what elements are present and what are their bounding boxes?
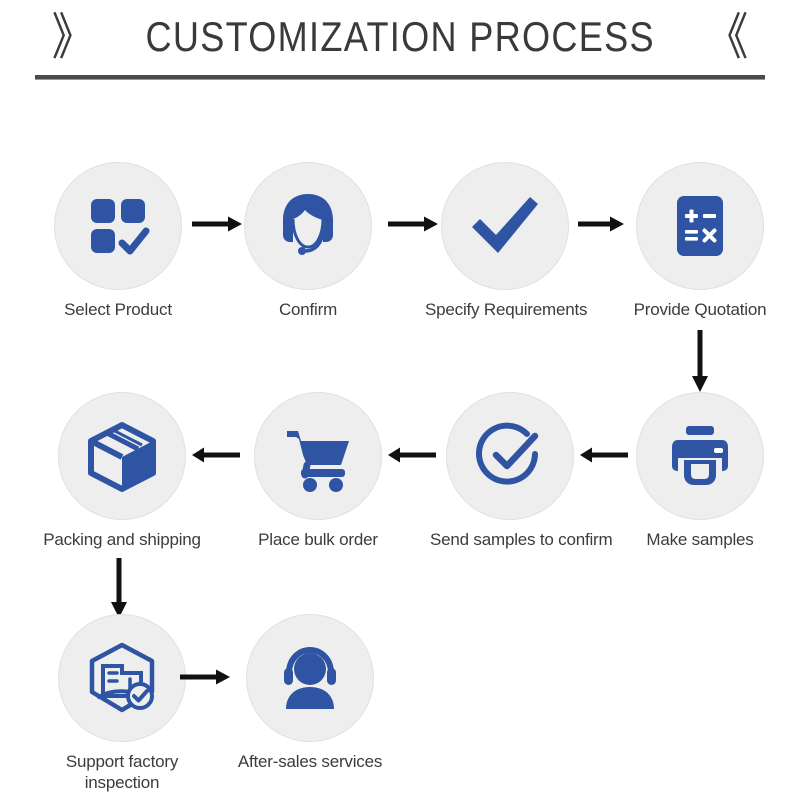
step-icon-circle	[58, 392, 186, 520]
step-provide-quotation[interactable]: Provide Quotation	[620, 162, 780, 320]
connector-arrow-right	[578, 215, 624, 233]
connector-arrow-left	[388, 446, 436, 464]
step-icon-circle	[446, 392, 574, 520]
connector-arrow-left	[192, 446, 240, 464]
connector-arrow-down	[108, 558, 130, 618]
step-icon-circle	[254, 392, 382, 520]
step-icon-circle	[441, 162, 569, 290]
step-icon-circle	[58, 614, 186, 742]
step-label: Support factory inspection	[42, 751, 202, 793]
checkmark-icon	[466, 187, 544, 265]
step-label: Send samples to confirm	[430, 529, 590, 550]
shopping-cart-icon	[281, 419, 355, 493]
step-after-sales-services[interactable]: After-sales services	[230, 614, 390, 772]
step-label: Confirm	[228, 299, 388, 320]
connector-arrow-right	[192, 215, 242, 233]
headphones-person-icon	[273, 641, 347, 715]
step-label: Select Product	[38, 299, 198, 320]
grid-check-icon	[83, 191, 153, 261]
step-icon-circle	[636, 162, 764, 290]
package-box-icon	[83, 417, 161, 495]
connector-arrow-right	[388, 215, 438, 233]
connector-arrow-left	[580, 446, 628, 464]
chevron-right-decoration-icon: 》	[52, 12, 95, 62]
step-label: Place bulk order	[238, 529, 398, 550]
step-specify-requirements[interactable]: Specify Requirements	[425, 162, 585, 320]
chevron-left-decoration-icon: 《	[706, 12, 749, 62]
step-label: Specify Requirements	[425, 299, 585, 320]
connector-arrow-down	[689, 330, 711, 392]
calculator-icon	[666, 192, 734, 260]
step-icon-circle	[636, 392, 764, 520]
step-label: Packing and shipping	[42, 529, 202, 550]
step-make-samples[interactable]: Make samples	[620, 392, 780, 550]
step-label: Make samples	[620, 529, 780, 550]
step-label: After-sales services	[230, 751, 390, 772]
title-divider	[35, 75, 765, 80]
circle-check-icon	[472, 418, 548, 494]
step-place-bulk-order[interactable]: Place bulk order	[238, 392, 398, 550]
step-support-factory-inspection[interactable]: Support factory inspection	[42, 614, 202, 793]
step-icon-circle	[246, 614, 374, 742]
headset-agent-icon	[271, 189, 345, 263]
step-select-product[interactable]: Select Product	[38, 162, 198, 320]
step-confirm[interactable]: Confirm	[228, 162, 388, 320]
printer-icon	[664, 420, 736, 492]
step-icon-circle	[244, 162, 372, 290]
step-label: Provide Quotation	[620, 299, 780, 320]
step-packing-and-shipping[interactable]: Packing and shipping	[42, 392, 202, 550]
title-row: 》 CUSTOMIZATION PROCESS 《	[0, 8, 800, 66]
factory-shield-check-icon	[84, 640, 160, 716]
page-header: 》 CUSTOMIZATION PROCESS 《	[0, 0, 800, 90]
connector-arrow-right	[180, 668, 230, 686]
step-icon-circle	[54, 162, 182, 290]
step-send-samples-to-confirm[interactable]: Send samples to confirm	[430, 392, 590, 550]
page-title: CUSTOMIZATION PROCESS	[145, 16, 654, 58]
